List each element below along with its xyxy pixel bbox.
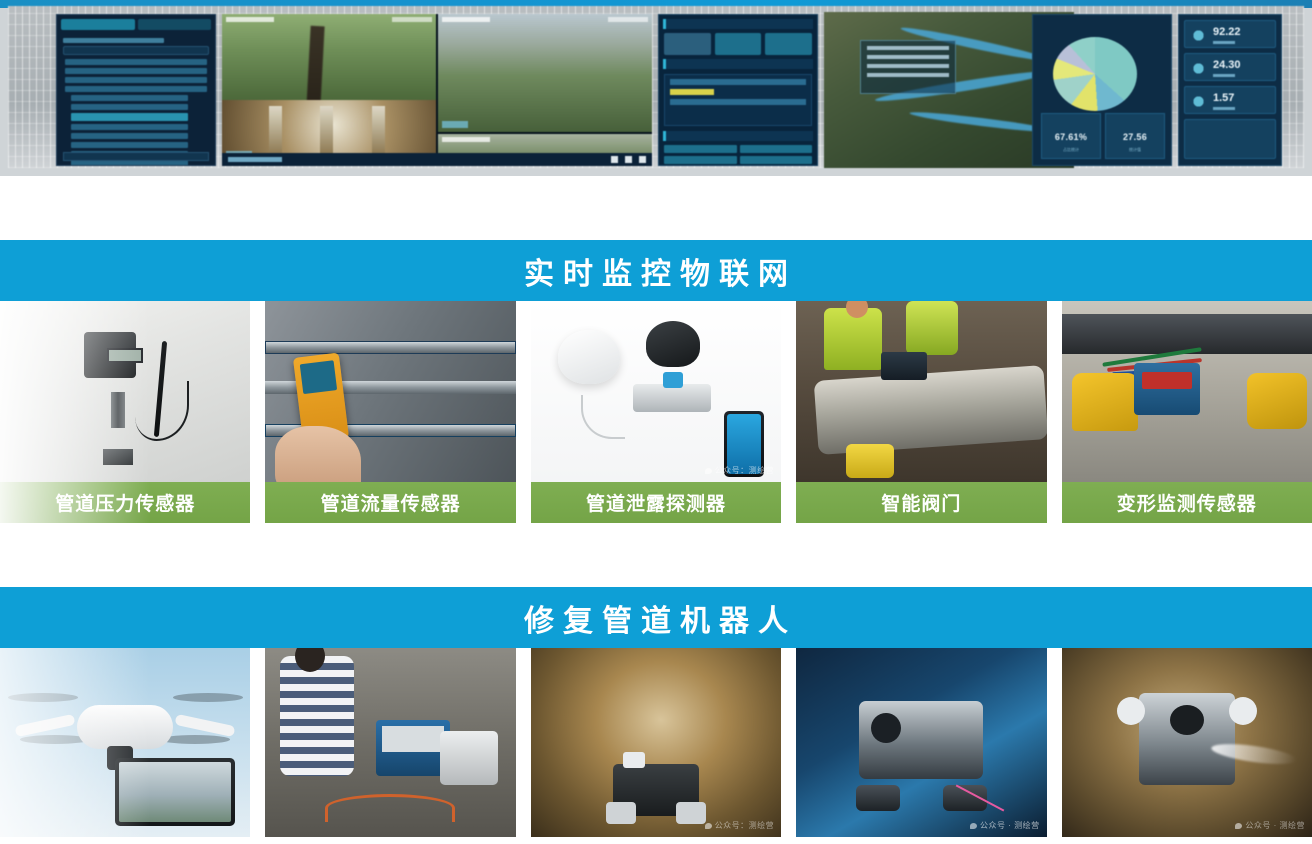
kpi-row: 1.57	[1184, 86, 1276, 114]
kpi-box-left: 67.61% 占比统计	[1041, 113, 1101, 159]
panel-header-alarm	[663, 19, 813, 29]
phone-screen	[727, 414, 761, 474]
sensor-cord	[581, 395, 625, 439]
tool-button	[664, 145, 737, 153]
product-caption: 管道流量传感器	[265, 482, 515, 523]
laptop	[881, 352, 927, 380]
card-grid-robot: 公众号：测绘营 公众号 · 测绘营	[0, 648, 1312, 837]
product-caption: 智能阀门	[796, 482, 1046, 523]
smartphone	[724, 411, 764, 477]
events-table-badge	[670, 89, 714, 95]
callout-line	[867, 46, 949, 50]
tab-people-monitor	[138, 19, 212, 30]
tool-button	[664, 156, 737, 164]
product-card[interactable]: 智能阀门	[796, 301, 1046, 523]
callout-line	[867, 73, 949, 77]
kpi-sublabel	[1213, 107, 1235, 110]
dispatch-button	[715, 33, 762, 55]
inspection-robot	[859, 701, 983, 779]
flow-sensor-photo	[265, 301, 515, 482]
fullscreen-icon	[611, 156, 618, 163]
product-image	[1062, 301, 1312, 482]
product-card[interactable]: 管道流量传感器	[265, 301, 515, 523]
rig-lens	[1170, 705, 1204, 735]
product-card[interactable]: 变形监测传感器	[1062, 301, 1312, 523]
kpi-sublabel	[1213, 74, 1235, 77]
yellow-clamp	[1247, 373, 1307, 429]
product-card[interactable]	[0, 648, 250, 837]
product-card[interactable]: 公众号：测绘营	[531, 648, 781, 837]
close-icon	[625, 156, 632, 163]
product-caption: 管道泄露探测器	[531, 482, 781, 523]
hero-screen-pie-dashboard: 67.61% 占比统计 27.56 统计值	[1032, 14, 1172, 166]
camera-tile-2	[438, 14, 652, 132]
product-card[interactable]: 管道压力传感器	[0, 301, 250, 523]
stop-icon	[639, 156, 646, 163]
kpi-value: 27.56	[1106, 132, 1164, 142]
tool-button	[740, 156, 813, 164]
sensor-indicator	[1142, 372, 1192, 389]
worker-vest	[906, 301, 958, 355]
hero-screen-control-panel	[658, 14, 818, 166]
product-image: 公众号 · 测绘营	[1062, 648, 1312, 837]
leak-detector-photo	[531, 301, 781, 482]
crawler-track	[606, 802, 636, 824]
section-robot: 修复管道机器人	[0, 587, 1312, 837]
detector-puck	[558, 330, 620, 384]
drone-body	[77, 705, 173, 749]
events-table-row	[670, 99, 806, 105]
product-label: 管道压力传感器	[55, 489, 195, 516]
crawler-track	[676, 802, 706, 824]
mounting-rail	[1062, 314, 1312, 354]
tablet-monitor	[115, 758, 235, 826]
tree-node	[65, 59, 207, 65]
product-label: 管道泄露探测器	[586, 489, 726, 516]
history-button	[765, 33, 812, 55]
hall-pillar	[320, 106, 333, 154]
hero-photo-inner: 67.61% 占比统计 27.56 统计值 92.22 24.30	[8, 6, 1304, 168]
product-image	[796, 301, 1046, 482]
card-grid-iot: 管道压力传感器 管道流量传感器	[0, 301, 1312, 523]
tree-node	[65, 86, 207, 92]
product-image: 公众号 · 测绘营	[796, 648, 1046, 837]
kpi-list-panel	[1184, 119, 1276, 159]
section-title: 修复管道机器人	[515, 596, 797, 640]
product-image	[0, 301, 250, 482]
kpi-row: 24.30	[1184, 53, 1276, 81]
yellow-clamp	[1072, 373, 1138, 431]
yellow-equipment	[846, 444, 894, 478]
product-label: 变形监测传感器	[1117, 489, 1257, 516]
callout-line	[867, 64, 949, 68]
product-image: 公众号：测绘营	[531, 301, 781, 482]
pipe-crawler-photo	[531, 648, 781, 837]
tool-button	[740, 145, 813, 153]
tree-node	[71, 124, 188, 130]
deformation-sensor-photo	[1062, 301, 1312, 482]
tree-node	[71, 133, 188, 139]
product-image: 公众号：测绘营	[531, 648, 781, 837]
tree-node	[71, 95, 188, 101]
section-banner-iot: 实时监控物联网	[0, 240, 1312, 301]
tree-node-selected	[71, 113, 188, 121]
drone-arm	[175, 714, 236, 737]
valve-actuator-dome	[646, 321, 700, 367]
tab-device-monitor	[61, 19, 135, 30]
product-image	[265, 301, 515, 482]
rotor	[8, 693, 78, 702]
camera-toolbar-label	[228, 157, 282, 162]
tablet-screen	[119, 762, 231, 822]
section-banner-robot: 修复管道机器人	[0, 587, 1312, 648]
tree-tabs	[57, 15, 215, 34]
panel-header-events	[663, 59, 813, 69]
operator	[280, 656, 354, 776]
worker-vest	[824, 308, 882, 370]
product-card[interactable]: 公众号 · 测绘营	[1062, 648, 1312, 837]
kpi-number: 92.22	[1213, 26, 1241, 38]
sensor-stem	[111, 392, 125, 428]
camera-location	[392, 17, 432, 22]
jetting-rig	[1139, 693, 1235, 785]
sensor-enclosure	[1134, 363, 1200, 415]
product-caption: 管道压力传感器	[0, 482, 250, 523]
hall-pillar	[372, 106, 385, 154]
product-card[interactable]	[265, 648, 515, 837]
kpi-unit: 统计值	[1106, 147, 1164, 153]
drone-arm	[15, 714, 76, 737]
kpi-box-right: 27.56 统计值	[1105, 113, 1165, 159]
rotor	[173, 693, 243, 702]
events-table-header	[670, 79, 806, 85]
kpi-number: 1.57	[1213, 92, 1234, 104]
tree-node	[71, 104, 188, 110]
cable	[135, 381, 189, 441]
pipe	[265, 341, 515, 354]
tree-node	[65, 77, 207, 83]
tree-node	[65, 68, 207, 74]
sensor-base	[103, 449, 133, 465]
panel-header-tools	[663, 131, 813, 141]
metric-icon	[1192, 30, 1205, 41]
light-head	[1117, 697, 1145, 725]
tool-button-grid	[659, 145, 817, 166]
pressure-sensor-photo	[0, 301, 250, 482]
orange-cable	[325, 794, 455, 822]
jetting-robot-photo	[1062, 648, 1312, 837]
product-label: 智能阀门	[881, 489, 961, 516]
product-showcase-page: 67.61% 占比统计 27.56 统计值 92.22 24.30	[0, 0, 1312, 844]
alarm-button-row	[659, 33, 817, 55]
tree-node	[71, 142, 188, 148]
section-title: 实时监控物联网	[515, 249, 797, 293]
kpi-value: 67.61%	[1042, 132, 1100, 142]
product-image	[0, 648, 250, 837]
camera-location	[608, 17, 648, 22]
tree-footer-select	[63, 152, 209, 161]
large-pipe	[814, 365, 1047, 455]
camera-timestamp	[442, 137, 490, 142]
valve-body	[633, 384, 711, 412]
product-card[interactable]: 公众号 · 测绘营	[796, 648, 1046, 837]
hero-monitoring-wall-photo: 67.61% 占比统计 27.56 统计值 92.22 24.30	[0, 0, 1312, 176]
pie-chart	[1053, 37, 1137, 111]
case-screen	[382, 726, 444, 752]
tree-search-input	[63, 46, 209, 55]
metric-icon	[1192, 96, 1205, 107]
light-head	[1229, 697, 1257, 725]
tree-title	[63, 38, 164, 43]
metric-icon	[1192, 63, 1205, 74]
kpi-sublabel	[1213, 41, 1235, 44]
sensor-display	[107, 348, 143, 363]
crawler-track	[856, 785, 900, 811]
control-case	[376, 720, 450, 776]
robot-camera-lens	[871, 713, 901, 743]
hero-screen-tree-panel	[56, 14, 216, 166]
map-callout-tooltip	[860, 40, 956, 94]
hero-screen-camera-grid	[222, 14, 652, 166]
camera-timestamp	[442, 17, 490, 22]
camera-timestamp	[226, 17, 274, 22]
alarm-status-button	[664, 33, 711, 55]
product-caption: 变形监测传感器	[1062, 482, 1312, 523]
camera-controls	[442, 121, 468, 128]
meter-screen	[300, 360, 337, 394]
hero-screen-kpi-column: 92.22 24.30 1.57	[1178, 14, 1282, 166]
cable-reel	[440, 731, 498, 785]
events-table	[664, 74, 812, 126]
product-card[interactable]: 公众号：测绘营 管道泄露探测器	[531, 301, 781, 523]
kpi-row: 92.22	[1184, 20, 1276, 48]
product-label: 管道流量传感器	[321, 489, 461, 516]
product-image	[265, 648, 515, 837]
blue-crawler-photo	[796, 648, 1046, 837]
section-iot: 实时监控物联网 管道压力传感器	[0, 240, 1312, 523]
kpi-number: 24.30	[1213, 59, 1241, 71]
kpi-unit: 占比统计	[1042, 147, 1100, 153]
hall-pillar	[269, 106, 282, 154]
smart-valve-photo	[796, 301, 1046, 482]
callout-line	[867, 55, 949, 59]
camera-toolbar	[222, 153, 652, 166]
drone-photo	[0, 648, 250, 837]
cctv-operator-photo	[265, 648, 515, 837]
